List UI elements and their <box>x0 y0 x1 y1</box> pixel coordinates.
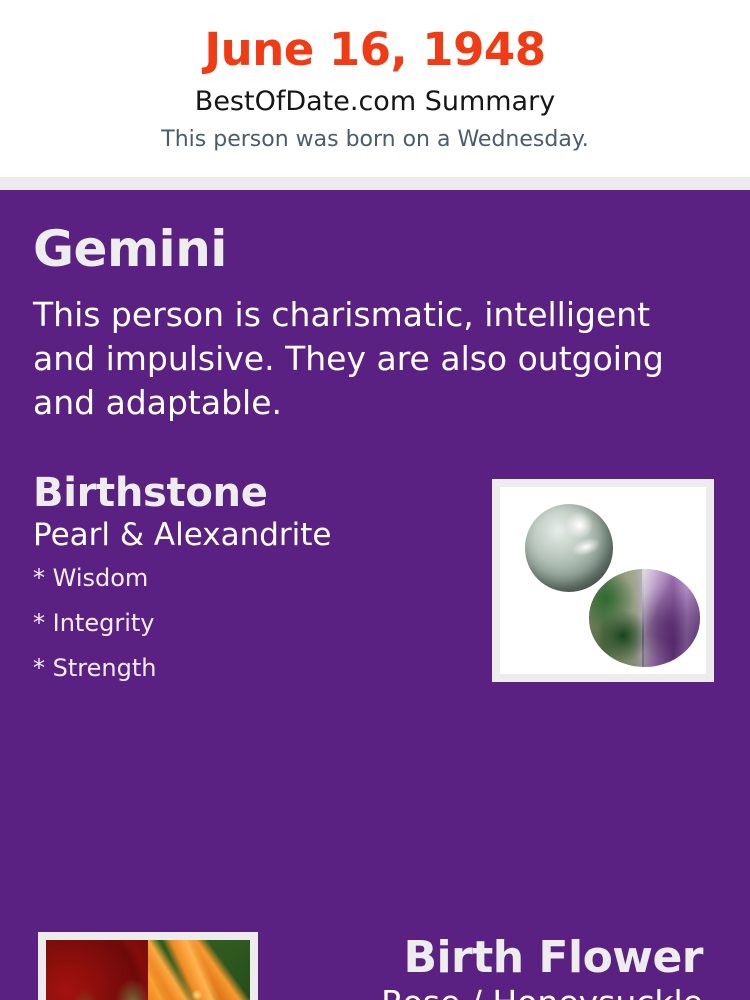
header-divider <box>0 177 750 190</box>
list-item: * Integrity <box>33 611 463 635</box>
birthstone-image-frame <box>492 479 714 682</box>
birth-flower-image <box>46 940 250 1000</box>
purple-content-panel: Gemini This person is charismatic, intel… <box>0 190 750 1000</box>
birthstone-section: Birthstone Pearl & Alexandrite * Wisdom … <box>33 472 463 701</box>
birth-flower-image-frame <box>38 932 258 1000</box>
red-roses-photo <box>46 940 148 1000</box>
birthstone-trait-list: * Wisdom * Integrity * Strength <box>33 566 463 680</box>
summary-card: June 16, 1948 BestOfDate.com Summary Thi… <box>0 0 750 1000</box>
birth-flower-section: Birth Flower Rose / Honeysuckle * Romanc… <box>283 935 703 1000</box>
birthstone-heading: Birthstone <box>33 472 463 515</box>
honeysuckle-photo <box>148 940 250 1000</box>
list-item: * Wisdom <box>33 566 463 590</box>
zodiac-sign-name: Gemini <box>33 223 227 276</box>
birthstone-names: Pearl & Alexandrite <box>33 518 463 554</box>
alexandrite-gem-icon <box>589 569 700 666</box>
birthstone-image <box>500 487 706 674</box>
birth-flower-heading: Birth Flower <box>283 935 703 982</box>
site-summary-label: BestOfDate.com Summary <box>195 86 555 118</box>
header: June 16, 1948 BestOfDate.com Summary Thi… <box>0 0 750 177</box>
page-title: June 16, 1948 <box>204 24 545 76</box>
list-item: * Strength <box>33 656 463 680</box>
birth-flower-names: Rose / Honeysuckle <box>283 984 703 1000</box>
born-day-text: This person was born on a Wednesday. <box>161 126 588 154</box>
zodiac-description: This person is charismatic, intelligent … <box>33 293 705 426</box>
